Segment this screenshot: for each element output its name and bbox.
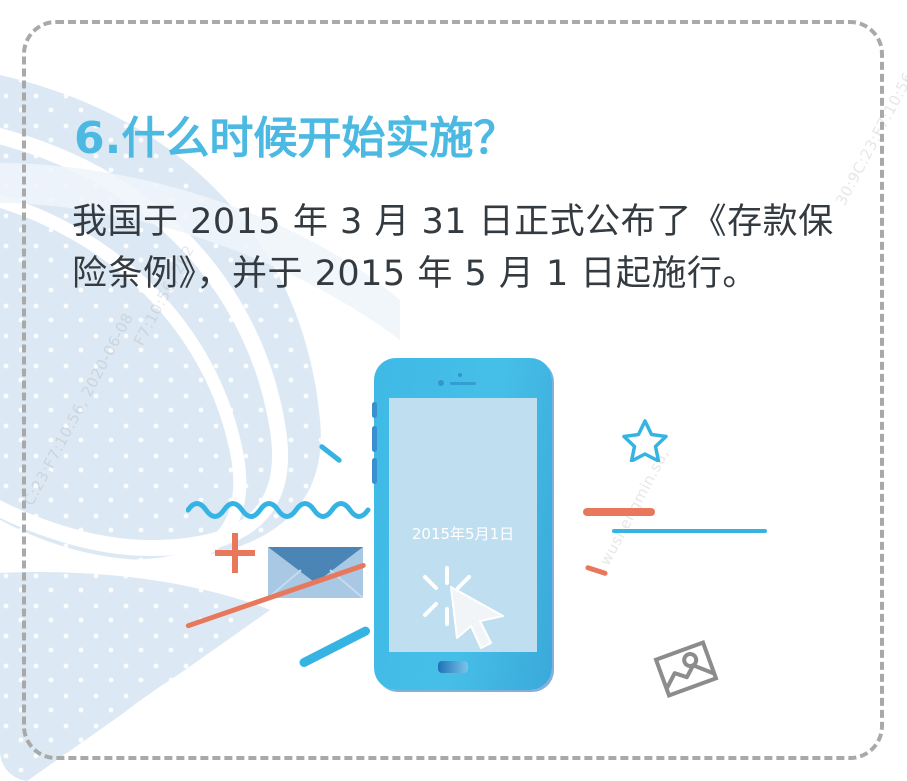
screen-date-text: 2015年5月1日 bbox=[389, 523, 537, 544]
wavy-line bbox=[186, 494, 386, 534]
plus-sign bbox=[213, 531, 257, 575]
coral-thick-bar bbox=[583, 508, 655, 516]
star-outline-icon bbox=[622, 418, 668, 462]
smartphone-illustration: 2015年5月1日 bbox=[374, 358, 552, 690]
sensor-dot-icon bbox=[438, 380, 444, 386]
phone-side-button-1 bbox=[372, 402, 377, 418]
photo-icon bbox=[653, 638, 719, 700]
body-paragraph: 我国于 2015 年 3 月 31 日正式公布了《存款保险条例》，并于 2015… bbox=[72, 196, 858, 300]
phone-side-button-2 bbox=[372, 426, 377, 452]
phone-side-button-3 bbox=[372, 458, 377, 484]
speaker-slot-icon bbox=[450, 382, 476, 385]
camera-dot-icon bbox=[458, 373, 462, 377]
home-button bbox=[438, 661, 468, 673]
infographic-card: C:23:F7:10:56, 2020-06-08 30:9C:23:F7:10… bbox=[0, 0, 907, 781]
cursor-arrow-icon bbox=[447, 583, 507, 653]
blue-thin-bar bbox=[612, 529, 767, 533]
page-title: 6.什么时候开始实施？ bbox=[74, 102, 517, 166]
phone-screen: 2015年5月1日 bbox=[389, 398, 537, 652]
